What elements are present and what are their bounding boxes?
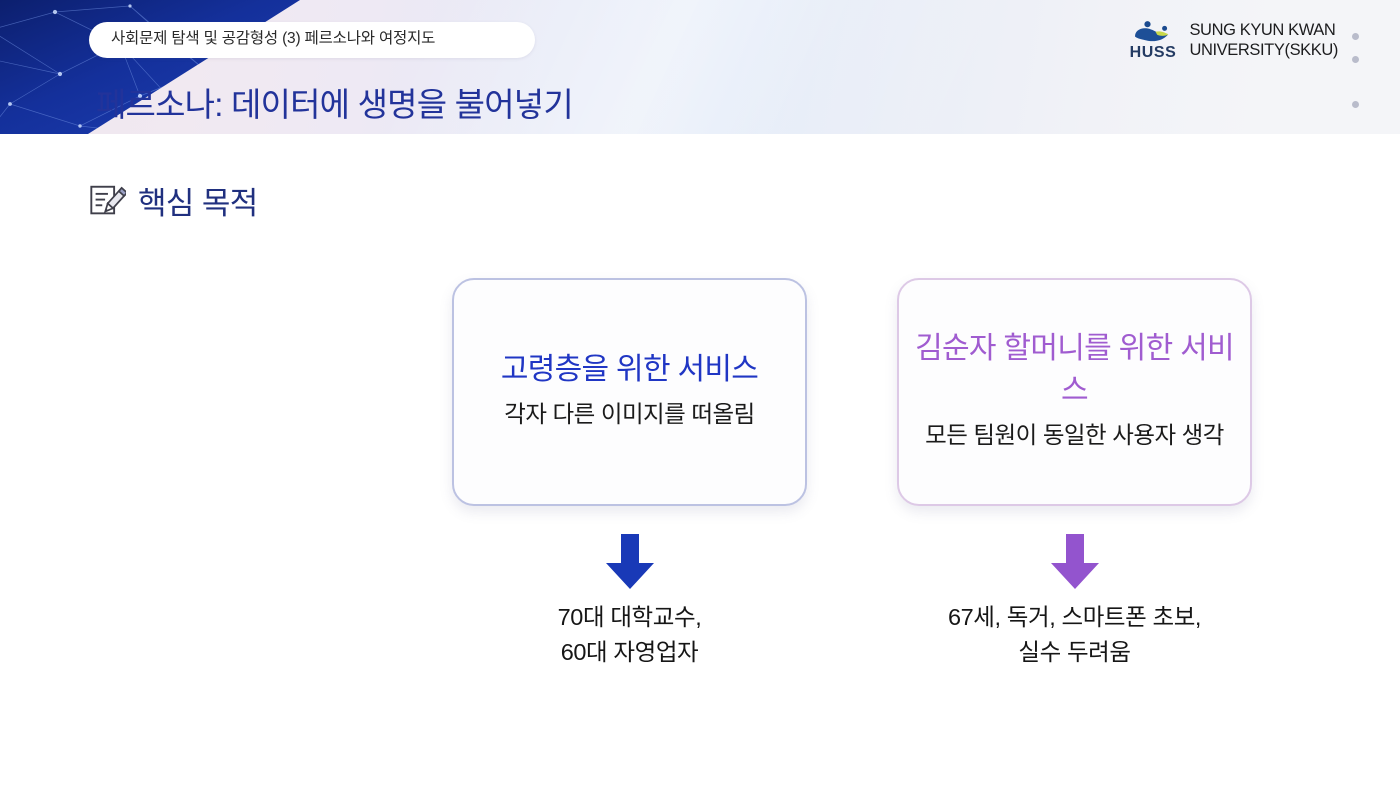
huss-swoosh-logo-icon: [1132, 20, 1174, 44]
outcome-line: 67세, 독거, 스마트폰 초보,: [948, 600, 1201, 635]
down-arrow-icon: [1049, 534, 1101, 590]
outcome-line: 60대 자영업자: [558, 635, 702, 670]
column-persona-service: 김순자 할머니를 위한 서비스 모든 팀원이 동일한 사용자 생각 67세, 독…: [897, 278, 1252, 669]
brand-lockup: HUSS SUNG KYUN KWAN UNIVERSITY(SKKU): [1130, 20, 1338, 61]
comparison-columns: 고령층을 위한 서비스 각자 다른 이미지를 떠올림 70대 대학교수, 60대…: [452, 278, 1252, 669]
card-body: 모든 팀원이 동일한 사용자 생각: [925, 418, 1224, 452]
outcome-text: 67세, 독거, 스마트폰 초보, 실수 두려움: [948, 600, 1201, 669]
section-title: 핵심 목적: [138, 178, 258, 223]
huss-logo: HUSS: [1130, 20, 1177, 61]
slide-header: 사회문제 탐색 및 공감형성 (3) 페르소나와 여정지도 페르소나: 데이터에…: [0, 0, 1400, 134]
page-title: 페르소나: 데이터에 생명을 불어넣기: [96, 78, 573, 126]
outcome-text: 70대 대학교수, 60대 자영업자: [558, 600, 702, 669]
breadcrumb: 사회문제 탐색 및 공감형성 (3) 페르소나와 여정지도: [89, 22, 535, 58]
section-heading: 핵심 목적: [88, 178, 258, 223]
card-generic-service[interactable]: 고령층을 위한 서비스 각자 다른 이미지를 떠올림: [452, 278, 807, 506]
slide-canvas: 사회문제 탐색 및 공감형성 (3) 페르소나와 여정지도 페르소나: 데이터에…: [0, 0, 1400, 788]
skku-wordmark: SUNG KYUN KWAN UNIVERSITY(SKKU): [1189, 21, 1338, 60]
card-title: 고령층을 위한 서비스: [501, 349, 758, 392]
card-title: 김순자 할머니를 위한 서비스: [915, 328, 1234, 413]
card-body: 각자 다른 이미지를 떠올림: [504, 397, 754, 431]
outcome-line: 실수 두려움: [948, 635, 1201, 670]
outcome-line: 70대 대학교수,: [558, 600, 702, 635]
skku-wordmark-line1: SUNG KYUN KWAN: [1189, 21, 1338, 40]
column-generic-service: 고령층을 위한 서비스 각자 다른 이미지를 떠올림 70대 대학교수, 60대…: [452, 278, 807, 669]
huss-mark-text: HUSS: [1130, 45, 1177, 61]
card-persona-service[interactable]: 김순자 할머니를 위한 서비스 모든 팀원이 동일한 사용자 생각: [897, 278, 1252, 506]
down-arrow-icon: [604, 534, 656, 590]
skku-wordmark-line2: UNIVERSITY(SKKU): [1189, 41, 1338, 60]
memo-pencil-icon: [88, 182, 126, 220]
